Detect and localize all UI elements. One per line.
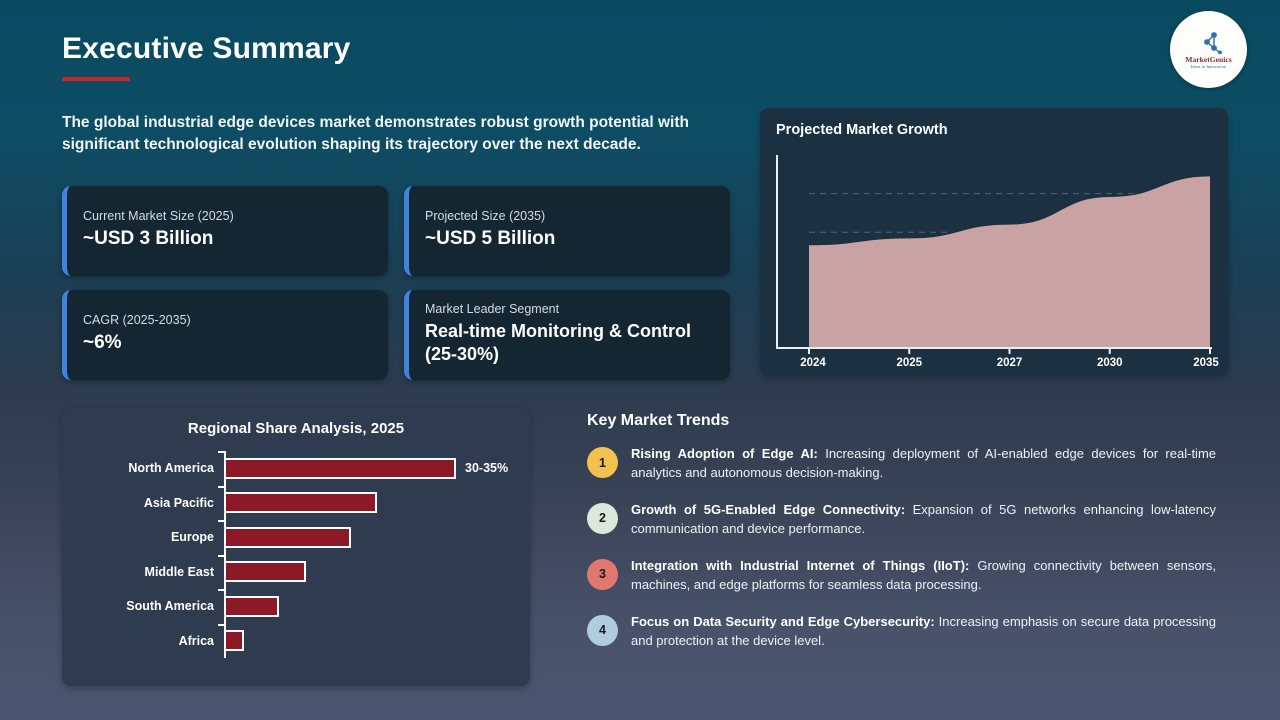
bar-track xyxy=(224,589,516,624)
intro-paragraph: The global industrial edge devices marke… xyxy=(62,112,734,157)
category-axis-tick xyxy=(218,451,225,453)
kpi-card-cagr: CAGR (2025-2035) ~6% xyxy=(62,290,388,380)
trend-text: Growth of 5G-Enabled Edge Connectivity: … xyxy=(631,501,1216,539)
x-axis-tick-label: 2030 xyxy=(1097,357,1123,369)
area-series-fill xyxy=(809,176,1210,348)
bar-chart-row: North America30-35% xyxy=(76,451,516,486)
bar-track xyxy=(224,555,516,590)
bar-fill[interactable] xyxy=(224,458,456,479)
trend-heading: Growth of 5G-Enabled Edge Connectivity: xyxy=(631,502,905,517)
bar-fill[interactable] xyxy=(224,527,351,548)
chart-title: Projected Market Growth xyxy=(776,122,1212,138)
trends-list: 1Rising Adoption of Edge AI: Increasing … xyxy=(587,445,1227,651)
company-logo: MarketGenics Ideas to Innovation xyxy=(1170,11,1247,88)
kpi-card-current-market-size: Current Market Size (2025) ~USD 3 Billio… xyxy=(62,186,388,276)
area-chart-svg xyxy=(776,155,1212,355)
logo-tagline: Ideas to Innovation xyxy=(1191,65,1226,70)
bar-category-label: Asia Pacific xyxy=(76,496,224,510)
trend-item: 2Growth of 5G-Enabled Edge Connectivity:… xyxy=(587,501,1227,539)
bar-fill[interactable] xyxy=(224,492,377,513)
kpi-card-grid: Current Market Size (2025) ~USD 3 Billio… xyxy=(62,186,730,394)
bar-track: 30-35% xyxy=(224,451,516,486)
page-title: Executive Summary xyxy=(62,32,351,65)
trend-text: Focus on Data Security and Edge Cybersec… xyxy=(631,613,1216,651)
kpi-label: CAGR (2025-2035) xyxy=(83,313,372,327)
trend-heading: Integration with Industrial Internet of … xyxy=(631,558,969,573)
trend-number-badge: 1 xyxy=(587,447,618,478)
category-axis-tick xyxy=(218,555,225,557)
kpi-label: Market Leader Segment xyxy=(425,302,714,316)
kpi-row-top: Current Market Size (2025) ~USD 3 Billio… xyxy=(62,186,730,276)
trend-item: 4Focus on Data Security and Edge Cyberse… xyxy=(587,613,1227,651)
area-chart-plot xyxy=(776,155,1212,355)
section-title: Key Market Trends xyxy=(587,412,1227,430)
bar-chart-row: Africa xyxy=(76,624,516,659)
category-axis-tick xyxy=(218,624,225,626)
bar-chart-row: South America xyxy=(76,589,516,624)
kpi-value: ~USD 3 Billion xyxy=(83,227,372,252)
x-axis-tick-label: 2035 xyxy=(1193,357,1219,369)
trend-item: 3Integration with Industrial Internet of… xyxy=(587,557,1227,595)
kpi-value: ~6% xyxy=(83,331,372,356)
trend-number-badge: 3 xyxy=(587,559,618,590)
trend-text: Integration with Industrial Internet of … xyxy=(631,557,1216,595)
category-axis-tick xyxy=(218,486,225,488)
logo-company-name: MarketGenics xyxy=(1185,56,1231,64)
chart-title: Regional Share Analysis, 2025 xyxy=(76,420,516,437)
projected-market-growth-panel: Projected Market Growth 2024202520272030… xyxy=(760,108,1228,376)
bar-category-label: South America xyxy=(76,599,224,613)
bar-value-label: 30-35% xyxy=(465,461,508,475)
trend-item: 1Rising Adoption of Edge AI: Increasing … xyxy=(587,445,1227,483)
trend-text: Rising Adoption of Edge AI: Increasing d… xyxy=(631,445,1216,483)
kpi-card-market-leader-segment: Market Leader Segment Real-time Monitori… xyxy=(404,290,730,380)
title-underline-rule xyxy=(62,77,130,81)
kpi-row-bottom: CAGR (2025-2035) ~6% Market Leader Segme… xyxy=(62,290,730,380)
bar-fill[interactable] xyxy=(224,630,244,651)
kpi-value: ~USD 5 Billion xyxy=(425,227,714,252)
regional-share-panel: Regional Share Analysis, 2025 North Amer… xyxy=(62,408,530,686)
bar-track xyxy=(224,624,516,659)
category-axis-tick xyxy=(218,520,225,522)
trend-heading: Rising Adoption of Edge AI: xyxy=(631,446,818,461)
bar-track xyxy=(224,520,516,555)
bar-category-label: Middle East xyxy=(76,565,224,579)
bar-fill[interactable] xyxy=(224,596,279,617)
x-axis-tick-labels: 20242025202720302035 xyxy=(776,357,1212,375)
x-axis-tick-label: 2025 xyxy=(896,357,922,369)
bar-track xyxy=(224,486,516,521)
category-axis-tick xyxy=(218,589,225,591)
kpi-label: Projected Size (2035) xyxy=(425,209,714,223)
key-market-trends-section: Key Market Trends 1Rising Adoption of Ed… xyxy=(587,412,1227,669)
x-axis-tick-label: 2027 xyxy=(997,357,1023,369)
kpi-label: Current Market Size (2025) xyxy=(83,209,372,223)
kpi-card-projected-size: Projected Size (2035) ~USD 5 Billion xyxy=(404,186,730,276)
kpi-value: Real-time Monitoring & Control (25-30%) xyxy=(425,320,714,367)
bar-chart-row: Europe xyxy=(76,520,516,555)
bar-chart-row: Asia Pacific xyxy=(76,486,516,521)
trend-heading: Focus on Data Security and Edge Cybersec… xyxy=(631,614,935,629)
x-axis-tick-label: 2024 xyxy=(800,357,826,369)
trend-number-badge: 2 xyxy=(587,503,618,534)
bar-chart-row: Middle East xyxy=(76,555,516,590)
bar-category-label: Europe xyxy=(76,530,224,544)
bar-category-label: North America xyxy=(76,461,224,475)
bar-category-label: Africa xyxy=(76,634,224,648)
trend-number-badge: 4 xyxy=(587,615,618,646)
bar-chart-rows: North America30-35%Asia PacificEuropeMid… xyxy=(76,451,516,658)
network-nodes-icon xyxy=(1194,30,1224,55)
bar-fill[interactable] xyxy=(224,561,306,582)
header: Executive Summary xyxy=(62,32,351,81)
